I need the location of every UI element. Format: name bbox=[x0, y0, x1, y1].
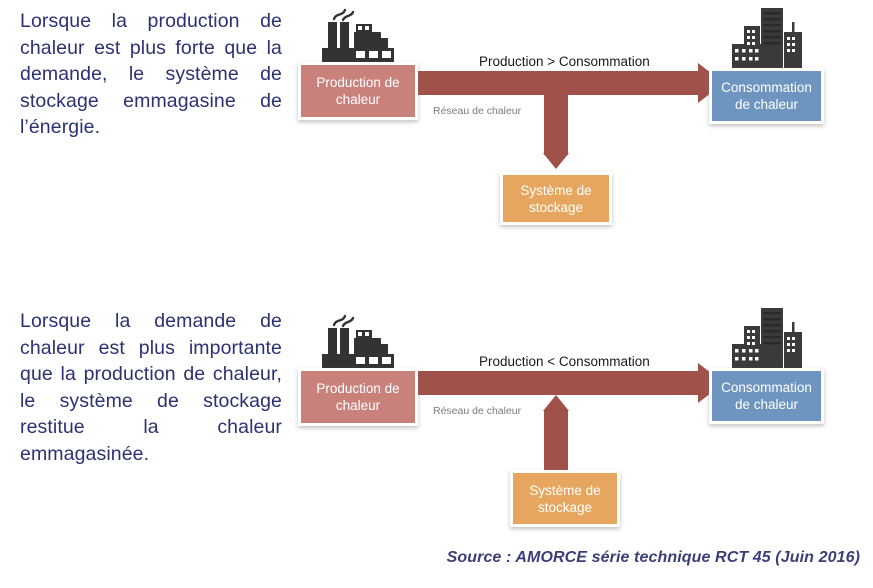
storage-box-bottom[interactable]: Système de stockage bbox=[510, 470, 620, 527]
storage-box-line1: Système de bbox=[529, 483, 600, 498]
storage-branch-pipe-vertical bbox=[544, 410, 568, 472]
consumption-box-top[interactable]: Consommation de chaleur bbox=[709, 68, 824, 124]
consumption-box-line2: de chaleur bbox=[735, 97, 798, 112]
consumption-box-line1: Consommation bbox=[721, 80, 812, 95]
relation-caption-top: Production > Consommation bbox=[479, 54, 650, 69]
production-box-line2: chaleur bbox=[336, 398, 380, 413]
arrowhead-from-storage bbox=[543, 395, 569, 411]
narrative-text-storage-discharging: Lorsque la demande de chaleur est plus i… bbox=[20, 308, 282, 467]
storage-box-top[interactable]: Système de stockage bbox=[500, 172, 612, 225]
consumption-box-line1: Consommation bbox=[721, 380, 812, 395]
arrowhead-into-storage bbox=[543, 153, 569, 169]
narrative-text-storage-charging: Lorsque la production de chaleur est plu… bbox=[20, 8, 282, 141]
city-buildings-icon bbox=[730, 4, 816, 70]
storage-branch-pipe-vertical bbox=[544, 93, 568, 155]
production-box-line1: Production de bbox=[316, 381, 399, 396]
production-box-bottom[interactable]: Production de chaleur bbox=[298, 368, 418, 426]
network-label-top: Réseau de chaleur bbox=[433, 105, 521, 117]
diagram-production-less: Production de chaleur Production < Conso… bbox=[290, 300, 873, 550]
storage-box-line2: stockage bbox=[529, 200, 583, 215]
network-label-bottom: Réseau de chaleur bbox=[433, 405, 521, 417]
diagram-production-greater: Production de chaleur Production > Conso… bbox=[290, 0, 873, 250]
consumption-box-line2: de chaleur bbox=[735, 397, 798, 412]
factory-icon bbox=[310, 4, 402, 66]
production-box-top[interactable]: Production de chaleur bbox=[298, 62, 418, 120]
storage-box-line1: Système de bbox=[520, 183, 591, 198]
heat-network-pipe-horizontal bbox=[416, 71, 702, 95]
slide-canvas: Lorsque la production de chaleur est plu… bbox=[0, 0, 873, 588]
source-credit: Source : AMORCE série technique RCT 45 (… bbox=[430, 549, 860, 567]
production-box-line2: chaleur bbox=[336, 92, 380, 107]
city-buildings-icon bbox=[730, 304, 816, 370]
storage-box-line2: stockage bbox=[538, 500, 592, 515]
consumption-box-bottom[interactable]: Consommation de chaleur bbox=[709, 368, 824, 424]
heat-network-pipe-horizontal bbox=[416, 371, 702, 395]
relation-caption-bottom: Production < Consommation bbox=[479, 354, 650, 369]
production-box-line1: Production de bbox=[316, 75, 399, 90]
factory-icon bbox=[310, 310, 402, 372]
